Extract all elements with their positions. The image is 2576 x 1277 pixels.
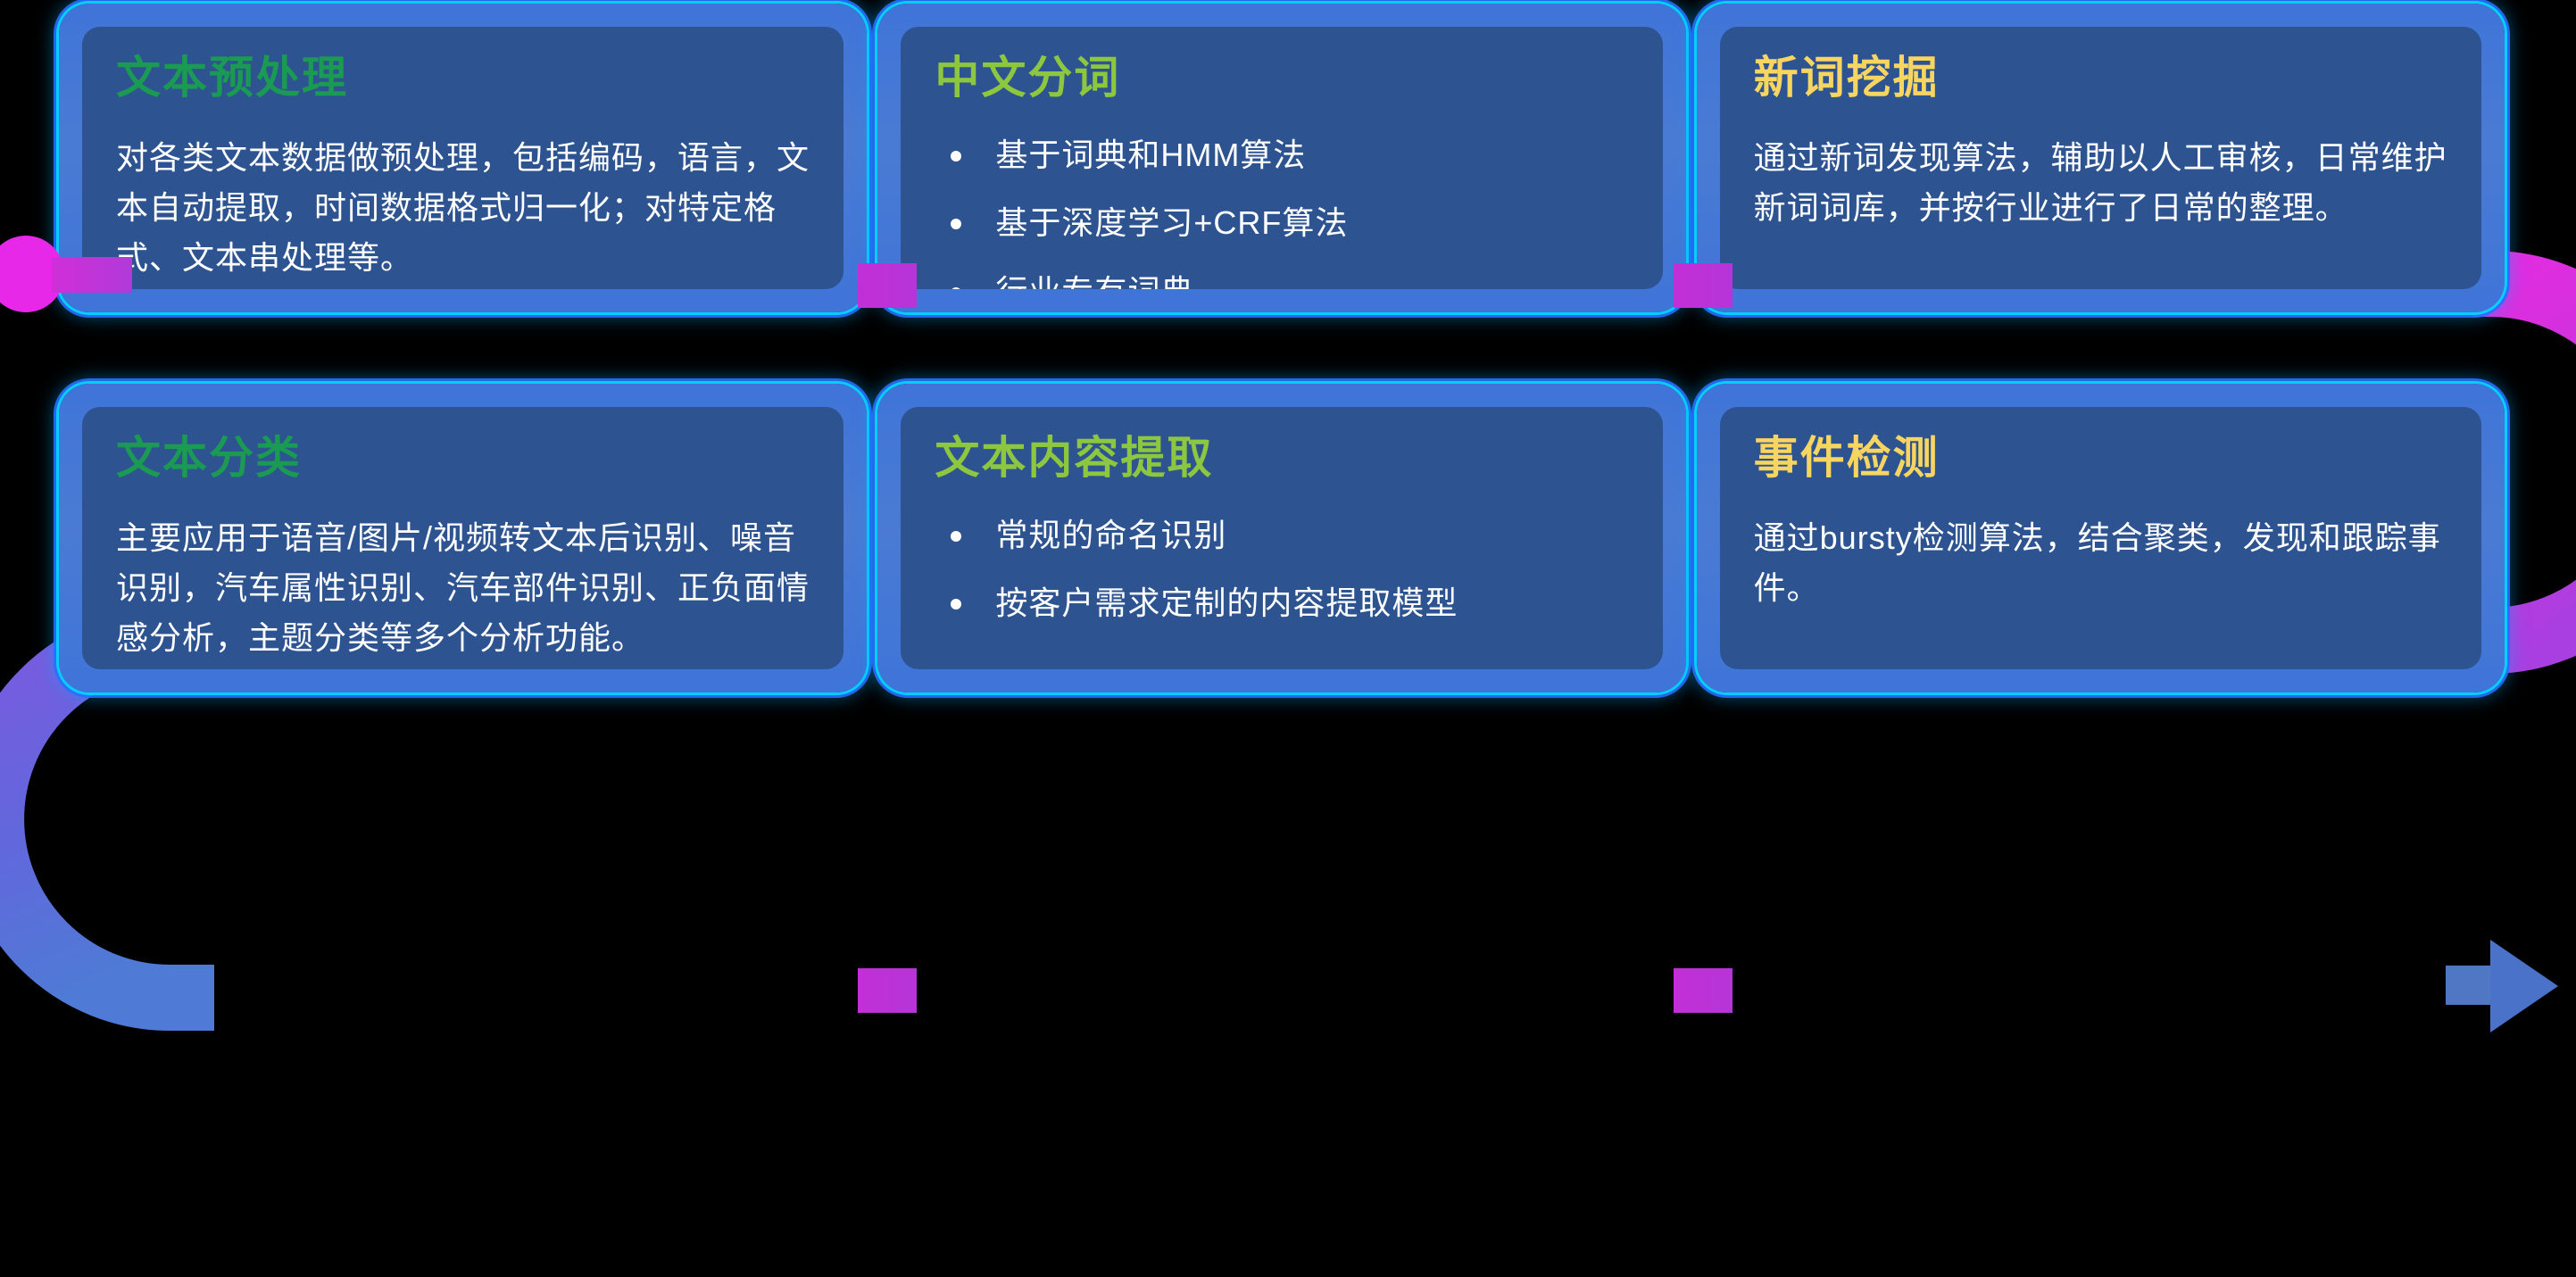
card-content-extraction[interactable]: 文本内容提取 常规的命名识别 按客户需求定制的内容提取模型 — [877, 384, 1685, 692]
card-bullet-list: 基于词典和HMM算法 基于深度学习+CRF算法 行业专有词典 — [935, 133, 1628, 289]
card-text-classification[interactable]: 文本分类 主要应用于语音/图片/视频转文本后识别、噪音识别，汽车属性识别、汽车部… — [59, 384, 867, 692]
connector-chip-top-1 — [858, 263, 917, 308]
card-inner: 文本内容提取 常规的命名识别 按客户需求定制的内容提取模型 — [901, 407, 1662, 669]
start-node-bar — [52, 257, 132, 293]
card-chinese-segmentation[interactable]: 中文分词 基于词典和HMM算法 基于深度学习+CRF算法 行业专有词典 — [877, 4, 1685, 312]
card-title: 事件检测 — [1754, 434, 2447, 483]
card-text-preprocessing[interactable]: 文本预处理 对各类文本数据做预处理，包括编码，语言，文本自动提取，时间数据格式归… — [59, 4, 867, 312]
connector-chip-bottom-1 — [858, 968, 917, 1013]
card-event-detection[interactable]: 事件检测 通过bursty检测算法，结合聚类，发现和跟踪事件。 — [1697, 384, 2505, 692]
end-arrow-icon — [2490, 940, 2558, 1032]
connector-chip-bottom-2 — [1674, 968, 1733, 1013]
card-body: 主要应用于语音/图片/视频转文本后识别、噪音识别，汽车属性识别、汽车部件识别、正… — [116, 513, 810, 662]
card-inner: 文本预处理 对各类文本数据做预处理，包括编码，语言，文本自动提取，时间数据格式归… — [82, 27, 843, 289]
flow-diagram: 文本预处理 对各类文本数据做预处理，包括编码，语言，文本自动提取，时间数据格式归… — [0, 0, 2576, 1277]
list-item: 行业专有词典 — [935, 269, 1628, 289]
card-inner: 新词挖掘 通过新词发现算法，辅助以人工审核，日常维护新词词库，并按行业进行了日常… — [1720, 27, 2481, 289]
card-title: 新词挖掘 — [1754, 54, 2447, 103]
list-item: 基于深度学习+CRF算法 — [935, 201, 1628, 245]
card-bullet-list: 常规的命名识别 按客户需求定制的内容提取模型 — [935, 513, 1628, 626]
connector-chip-top-2 — [1674, 263, 1733, 308]
card-inner: 文本分类 主要应用于语音/图片/视频转文本后识别、噪音识别，汽车属性识别、汽车部… — [82, 407, 843, 669]
card-new-word-mining[interactable]: 新词挖掘 通过新词发现算法，辅助以人工审核，日常维护新词词库，并按行业进行了日常… — [1697, 4, 2505, 312]
card-body: 对各类文本数据做预处理，包括编码，语言，文本自动提取，时间数据格式归一化；对特定… — [116, 133, 810, 282]
card-inner: 事件检测 通过bursty检测算法，结合聚类，发现和跟踪事件。 — [1720, 407, 2481, 669]
card-title: 文本预处理 — [116, 54, 810, 103]
card-title: 文本内容提取 — [935, 434, 1628, 483]
card-body: 通过新词发现算法，辅助以人工审核，日常维护新词词库，并按行业进行了日常的整理。 — [1754, 133, 2447, 233]
card-body: 通过bursty检测算法，结合聚类，发现和跟踪事件。 — [1754, 513, 2447, 613]
card-inner: 中文分词 基于词典和HMM算法 基于深度学习+CRF算法 行业专有词典 — [901, 27, 1662, 289]
list-item: 基于词典和HMM算法 — [935, 133, 1628, 178]
card-title: 文本分类 — [116, 434, 810, 483]
card-row-bottom: 文本分类 主要应用于语音/图片/视频转文本后识别、噪音识别，汽车属性识别、汽车部… — [54, 384, 2510, 692]
card-row-top: 文本预处理 对各类文本数据做预处理，包括编码，语言，文本自动提取，时间数据格式归… — [54, 4, 2510, 312]
list-item: 常规的命名识别 — [935, 513, 1628, 558]
list-item: 按客户需求定制的内容提取模型 — [935, 581, 1628, 626]
card-title: 中文分词 — [935, 54, 1628, 103]
